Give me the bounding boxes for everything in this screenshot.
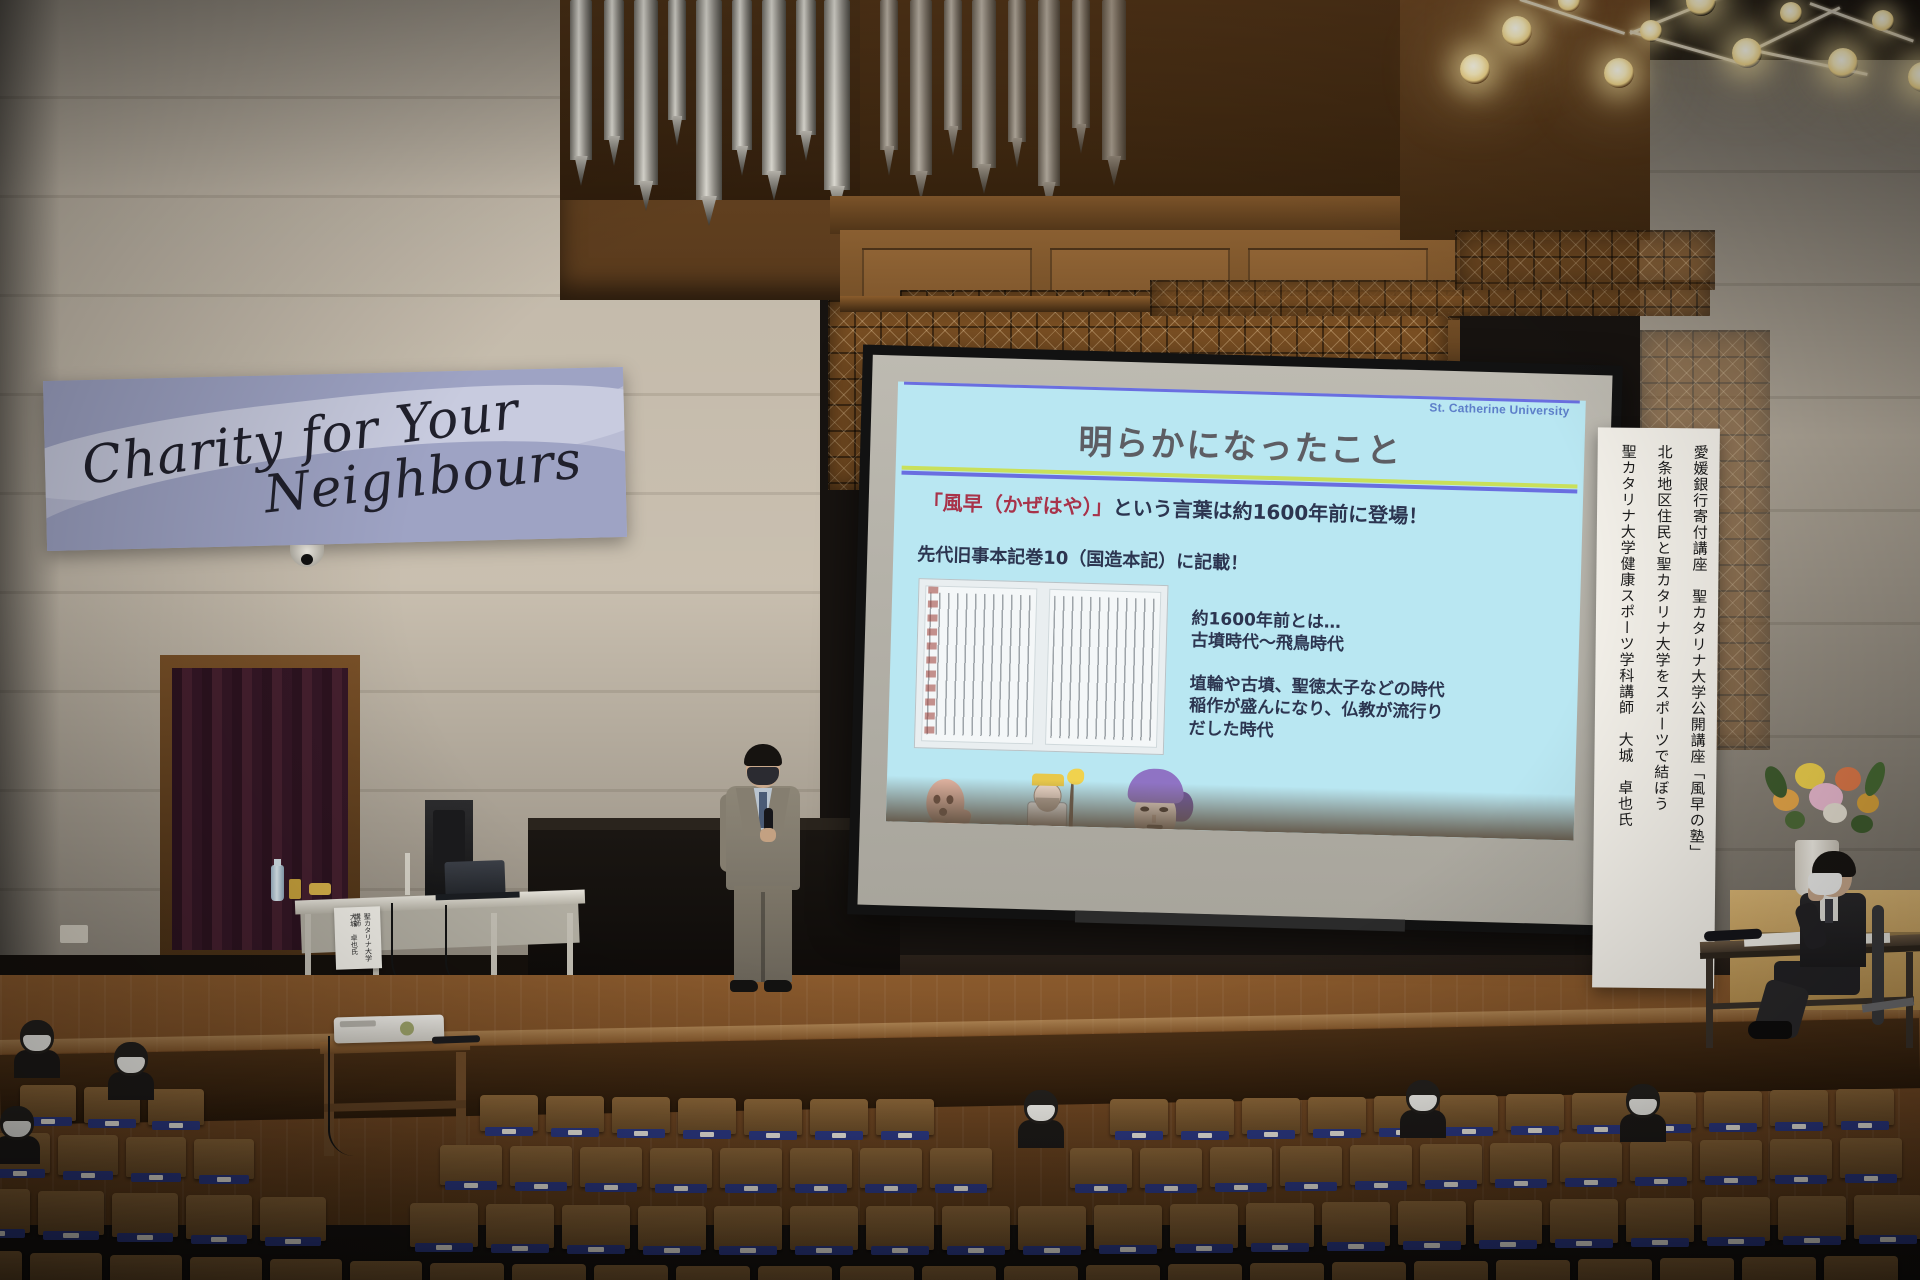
seated-staff-person bbox=[1778, 855, 1898, 1045]
vertical-event-banner: 愛媛銀行寄付講座 聖カタリナ大学公開講座「風早の塾」 北条地区住民と聖カタリナ大… bbox=[1592, 427, 1720, 988]
chandelier bbox=[1480, 0, 1920, 120]
audience-member bbox=[0, 1106, 40, 1158]
microphone-stand bbox=[405, 853, 410, 895]
audience-member bbox=[1018, 1090, 1064, 1142]
wall-outlet bbox=[60, 925, 88, 943]
organ-right-section bbox=[860, 0, 1420, 210]
presenter-person bbox=[718, 748, 804, 996]
university-logo-text: St. Catherine University bbox=[1429, 400, 1570, 418]
slide-top-rule bbox=[904, 381, 1580, 403]
auditorium-scene: Charity for Your Neighbours 聖カタリナ大学 講師 大… bbox=[0, 0, 1920, 1280]
slide-right-text-block: 約1600年前とは… 古墳時代〜飛鳥時代 埴輪や古墳、聖徳太子などの時代 稲作が… bbox=[1188, 608, 1570, 751]
organ-shelf bbox=[830, 196, 1470, 234]
vertical-banner-col-left: 聖カタリナ大学健康スポーツ学科講師 大城 卓也氏 bbox=[1613, 444, 1640, 972]
screen-stand bbox=[1075, 915, 1405, 945]
cup bbox=[289, 879, 301, 899]
lattice-upper-right bbox=[1455, 230, 1715, 290]
vertical-banner-col-right: 愛媛銀行寄付講座 聖カタリナ大学公開講座「風早の塾」 bbox=[1685, 444, 1712, 972]
historical-document-image bbox=[914, 578, 1169, 755]
slide-highlight-quote: 「風早（かぜはや）」 bbox=[922, 490, 1113, 519]
name-card-line-2: 大城 卓也氏 bbox=[348, 913, 359, 955]
projection-screen: St. Catherine University 明らかになったこと 「風早（か… bbox=[847, 345, 1623, 936]
audience-member bbox=[14, 1020, 60, 1072]
laptop bbox=[444, 860, 505, 896]
organ-pipe-recess bbox=[560, 0, 860, 200]
slide-bottom-shadow bbox=[886, 775, 1575, 840]
audience-member bbox=[108, 1042, 154, 1094]
audience-member bbox=[1620, 1084, 1666, 1136]
face-mask-icon bbox=[747, 767, 779, 785]
face-mask-icon bbox=[1808, 873, 1842, 895]
slide-highlight-line: 「風早（かぜはや）」という言葉は約1600年前に登場！ bbox=[922, 486, 1428, 529]
slide-source-line: 先代旧事本記巻10（国造本記）に記載！ bbox=[917, 540, 1249, 575]
water-bottle bbox=[271, 865, 284, 901]
presentation-slide: St. Catherine University 明らかになったこと 「風早（か… bbox=[886, 381, 1586, 840]
wall-banner-charity: Charity for Your Neighbours bbox=[43, 367, 627, 551]
slide-highlight-rest: という言葉は約1600年前に登場！ bbox=[1112, 496, 1428, 529]
vertical-banner-col-mid: 北条地区住民と聖カタリナ大学をスポーツで結ぼう bbox=[1649, 444, 1676, 972]
projector-lens-icon bbox=[400, 1021, 414, 1035]
screen-mat: St. Catherine University 明らかになったこと 「風早（か… bbox=[857, 355, 1612, 925]
audience-member bbox=[1400, 1080, 1446, 1132]
presenter-name-card: 聖カタリナ大学 講師 大城 卓也氏 bbox=[334, 906, 382, 970]
tray-item bbox=[309, 883, 331, 895]
flower-arrangement bbox=[1765, 745, 1885, 855]
